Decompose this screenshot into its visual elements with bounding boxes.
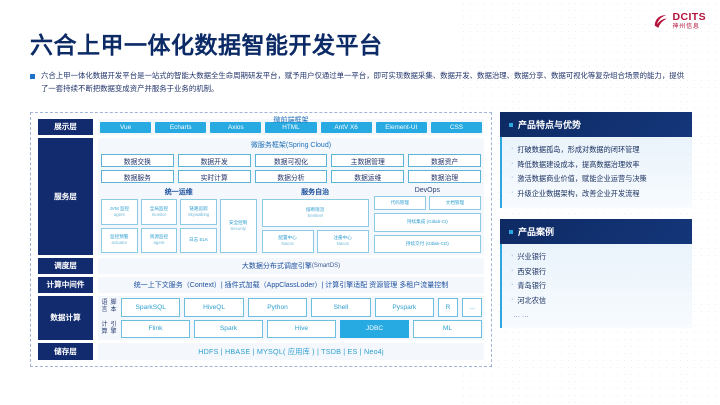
layer-data-compute: 数据 计算 语言 脚本 计算 引擎 [38, 296, 484, 340]
module-realtime-compute[interactable]: 实时计算 [178, 170, 251, 183]
list-item: · 西安银行 [511, 266, 683, 277]
layer-label-presentation: 展示层 [38, 119, 93, 135]
devops-cell-label: 文档管理 [446, 200, 464, 206]
module-data-analysis[interactable]: 数据分析 [255, 170, 328, 183]
list-item: · 降低数据建设成本，提高数据治理效率 [511, 159, 683, 170]
ops-cell-sublabel: Security [230, 226, 246, 232]
micro-frontend-caption: 微前端框架 [96, 115, 486, 125]
layer-label-middleware: 计算中间件 [38, 277, 93, 293]
architecture-diagram: 展示层 Vue Echarts Axios HTML AntV X6 Eleme… [30, 112, 492, 367]
list-item: · 激活数据商业价值，赋能企业运营与决策 [511, 173, 683, 184]
data-compute-body: 语言 脚本 计算 引擎 SparkSQL HiveQL [98, 296, 484, 340]
language-chip-r[interactable]: R [438, 298, 458, 317]
layer-middleware: 计算中间件 统一上下文服务（Context）| 插件式加载（AppClassLo… [38, 277, 484, 293]
advantage-text: 升级企业数据架构，改善企业开发流程 [517, 188, 639, 199]
language-chip-more[interactable]: ... [462, 298, 482, 317]
middleware-layer-body: 统一上下文服务（Context）| 插件式加载（AppClassLoder）| … [98, 277, 484, 293]
side-panel: 产品特点与优势 · 打破数据孤岛，形成对数据的闭环管理 · 降低数据建设成本，提… [500, 112, 692, 328]
ops-cell-global-monitor[interactable]: 全局监控 monitor [141, 199, 178, 225]
service-module-row-2: 数据服务 实时计算 数据分析 数据运维 数据治理 [101, 170, 481, 183]
layer-label-service: 服务层 [38, 138, 93, 255]
service-layer-body: 微服务框架(Spring Cloud) 数据交换 数据开发 数据可视化 主数据管… [98, 138, 484, 255]
ops-cell-resource-monitor[interactable]: 资源监控 agent [141, 228, 178, 254]
ops-cell-sublabel: actuator [112, 240, 128, 246]
panel-unified-ops: 统一运维 JVM 监控 agent 监控预警 [101, 186, 257, 253]
engine-chip-ml[interactable]: ML [413, 320, 482, 339]
language-chip-sparksql[interactable]: SparkSQL [121, 298, 180, 317]
layer-label-line2: 计算 [66, 313, 81, 322]
storage-tech-line: HDFS | HBASE | MYSQL( 应用库 ) | TSDB | ES … [98, 343, 484, 360]
module-data-visualization[interactable]: 数据可视化 [255, 154, 328, 167]
layer-label-storage: 储存层 [38, 343, 93, 360]
card-cases-title: 产品案例 [518, 225, 554, 238]
card-advantages-body: · 打破数据孤岛，形成对数据的闭环管理 · 降低数据建设成本，提高数据治理效率 … [500, 137, 692, 208]
microservice-framework-caption: 微服务框架(Spring Cloud) [98, 138, 484, 151]
panel-title-unified-ops: 统一运维 [101, 186, 257, 199]
layer-label-schedule: 调度层 [38, 258, 93, 274]
bullet-square-icon [509, 230, 513, 234]
list-item: · 打破数据孤岛，形成对数据的闭环管理 [511, 144, 683, 155]
case-text: 兴业银行 [517, 251, 546, 262]
side-label-language-script: 语言 脚本 [100, 298, 118, 317]
list-item: · 兴业银行 [511, 251, 683, 262]
dcits-logo-mark-icon [652, 13, 669, 30]
logo-name-cn: 神州信息 [673, 24, 707, 30]
layer-label-line1: 数据 [50, 313, 65, 322]
card-advantages-header: 产品特点与优势 [500, 112, 692, 137]
ops-cell-jvm-monitor[interactable]: JVM 监控 agent [101, 199, 138, 225]
advantage-text: 激活数据商业价值，赋能企业运营与决策 [517, 173, 646, 184]
list-item: · 河北农信 [511, 295, 683, 306]
panel-devops: DevOps 代码管理 文档管理 [374, 186, 481, 253]
card-advantages-title: 产品特点与优势 [518, 118, 581, 131]
module-data-governance[interactable]: 数据治理 [408, 170, 481, 183]
page-title: 六合上甲一体化数据智能开发平台 [30, 26, 383, 60]
schedule-engine-code: (SmartDS) [312, 263, 340, 269]
ops-cell-monitor-alert[interactable]: 监控预警 actuator [101, 228, 138, 254]
side-label-compute-engine: 计算 引擎 [100, 320, 118, 339]
governance-cell-registry-center[interactable]: 注册中心 Nacos [317, 230, 369, 254]
devops-cell-code-management[interactable]: 代码管理 [374, 196, 426, 210]
service-module-grid: 数据交换 数据开发 数据可视化 主数据管理 数据资产 数据服务 实时计算 数据分… [101, 154, 481, 183]
module-data-development[interactable]: 数据开发 [178, 154, 251, 167]
devops-cell-label: 持续集成 (Gitlab-CI) [407, 219, 448, 225]
side-label-l1: 语言 [100, 300, 109, 314]
list-item: · 青岛银行 [511, 280, 683, 291]
page-description-text: 六合上甲一体化数据开发平台是一站式的智能大数据全生命周期研发平台，赋予用户仅通过… [41, 70, 690, 96]
governance-cell-sublabel: Sentinel [307, 213, 323, 219]
card-cases-header: 产品案例 [500, 219, 692, 244]
ops-cell-security[interactable]: 安全控制 Security [220, 199, 257, 253]
devops-cell-doc-management[interactable]: 文档管理 [429, 196, 481, 210]
list-bullet-icon: · [511, 280, 513, 291]
language-chip-python[interactable]: Python [248, 298, 307, 317]
devops-cell-label: 持续交付 (Gitlab-CD) [406, 241, 449, 247]
list-bullet-icon: · [511, 266, 513, 277]
governance-cell-sublabel: Nacos [337, 241, 349, 247]
layer-schedule: 调度层 大数据分布式调度引擎 (SmartDS) [38, 258, 484, 274]
list-bullet-icon: · [511, 144, 513, 155]
engine-chip-hive[interactable]: Hive [267, 320, 336, 339]
ops-cell-sublabel: Skywalking [188, 212, 210, 218]
engine-chip-jdbc[interactable]: JDBC [340, 320, 409, 339]
dcits-logo: DCITS 神州信息 [652, 12, 707, 30]
list-bullet-icon: · [511, 251, 513, 262]
card-advantages: 产品特点与优势 · 打破数据孤岛，形成对数据的闭环管理 · 降低数据建设成本，提… [500, 112, 692, 208]
engine-chip-flink[interactable]: Flink [121, 320, 190, 339]
data-compute-side-labels: 语言 脚本 计算 引擎 [100, 298, 118, 338]
schedule-engine-line: 大数据分布式调度引擎 (SmartDS) [98, 258, 484, 274]
module-data-asset[interactable]: 数据资产 [408, 154, 481, 167]
layer-label-data-compute: 数据 计算 [38, 296, 93, 340]
governance-cell-sentinel[interactable]: 熔断限流 Sentinel [262, 199, 369, 227]
language-chip-shell[interactable]: Shell [311, 298, 370, 317]
card-cases: 产品案例 · 兴业银行 · 西安银行 · 青岛银行 · 河北农信 [500, 219, 692, 328]
side-label-l2: 引擎 [109, 322, 118, 336]
ops-cell-log[interactable]: 日志 ELK [180, 228, 217, 254]
language-chip-row: SparkSQL HiveQL Python Shell Pyspark R .… [121, 298, 482, 317]
list-item: · 升级企业数据架构，改善企业开发流程 [511, 188, 683, 199]
service-module-row-1: 数据交换 数据开发 数据可视化 主数据管理 数据资产 [101, 154, 481, 167]
logo-name-en: DCITS [673, 12, 707, 23]
layer-storage: 储存层 HDFS | HBASE | MYSQL( 应用库 ) | TSDB |… [38, 343, 484, 360]
list-bullet-icon: · [511, 295, 513, 306]
language-chip-hiveql[interactable]: HiveQL [184, 298, 243, 317]
ops-cell-sublabel: monitor [152, 212, 166, 218]
engine-chip-row: Flink Spark Hive JDBC ML [121, 320, 482, 339]
schedule-layer-body: 大数据分布式调度引擎 (SmartDS) [98, 258, 484, 274]
devops-cell-ci[interactable]: 持续集成 (Gitlab-CI) [374, 213, 481, 231]
governance-cell-sublabel: Nacos [281, 241, 293, 247]
list-bullet-icon: · [511, 173, 513, 184]
module-data-ops[interactable]: 数据运维 [331, 170, 404, 183]
ops-cell-sublabel: agent [114, 212, 125, 218]
case-text: 青岛银行 [517, 280, 546, 291]
list-bullet-icon: · [511, 188, 513, 199]
case-text: 西安银行 [517, 266, 546, 277]
devops-cell-label: 代码管理 [391, 200, 409, 206]
card-cases-body: · 兴业银行 · 西安银行 · 青岛银行 · 河北农信 …… [500, 244, 692, 328]
dcits-logo-text: DCITS 神州信息 [673, 12, 707, 30]
middleware-capability-line: 统一上下文服务（Context）| 插件式加载（AppClassLoder）| … [98, 277, 484, 293]
ops-cell-trace[interactable]: 链路追踪 Skywalking [180, 199, 217, 225]
ops-cell-label: 日志 ELK [189, 237, 208, 243]
side-label-l1: 计算 [100, 322, 109, 336]
ops-cell-sublabel: agent [154, 240, 165, 246]
module-data-exchange[interactable]: 数据交换 [101, 154, 174, 167]
module-data-service[interactable]: 数据服务 [101, 170, 174, 183]
panel-service-governance: 服务自治 熔断限流 Sentinel 配置中心 [262, 186, 369, 253]
panel-title-service-governance: 服务自治 [262, 186, 369, 199]
storage-layer-body: HDFS | HBASE | MYSQL( 应用库 ) | TSDB | ES … [98, 343, 484, 360]
devops-cell-cd[interactable]: 持续交付 (Gitlab-CD) [374, 235, 481, 253]
advantage-text: 打破数据孤岛，形成对数据的闭环管理 [517, 144, 639, 155]
layer-service: 服务层 微服务框架(Spring Cloud) 数据交换 数据开发 数据可视化 … [38, 138, 484, 255]
module-master-data-management[interactable]: 主数据管理 [331, 154, 404, 167]
list-bullet-icon: · [511, 159, 513, 170]
slide-root: DCITS 神州信息 六合上甲一体化数据智能开发平台 六合上甲一体化数据开发平台… [0, 0, 720, 405]
engine-chip-spark[interactable]: Spark [194, 320, 263, 339]
case-text: 河北农信 [517, 295, 546, 306]
governance-cell-config-center[interactable]: 配置中心 Nacos [262, 230, 314, 254]
case-more-ellipsis: …… [511, 310, 683, 319]
page-description: 六合上甲一体化数据开发平台是一站式的智能大数据全生命周期研发平台，赋予用户仅通过… [30, 70, 690, 96]
bullet-square-icon [509, 123, 513, 127]
advantage-text: 降低数据建设成本，提高数据治理效率 [517, 159, 639, 170]
language-chip-pyspark[interactable]: Pyspark [375, 298, 434, 317]
panel-title-devops: DevOps [374, 186, 481, 196]
bullet-square-icon [30, 74, 35, 79]
side-label-l2: 脚本 [109, 300, 118, 314]
schedule-engine-name: 大数据分布式调度引擎 [242, 261, 312, 271]
